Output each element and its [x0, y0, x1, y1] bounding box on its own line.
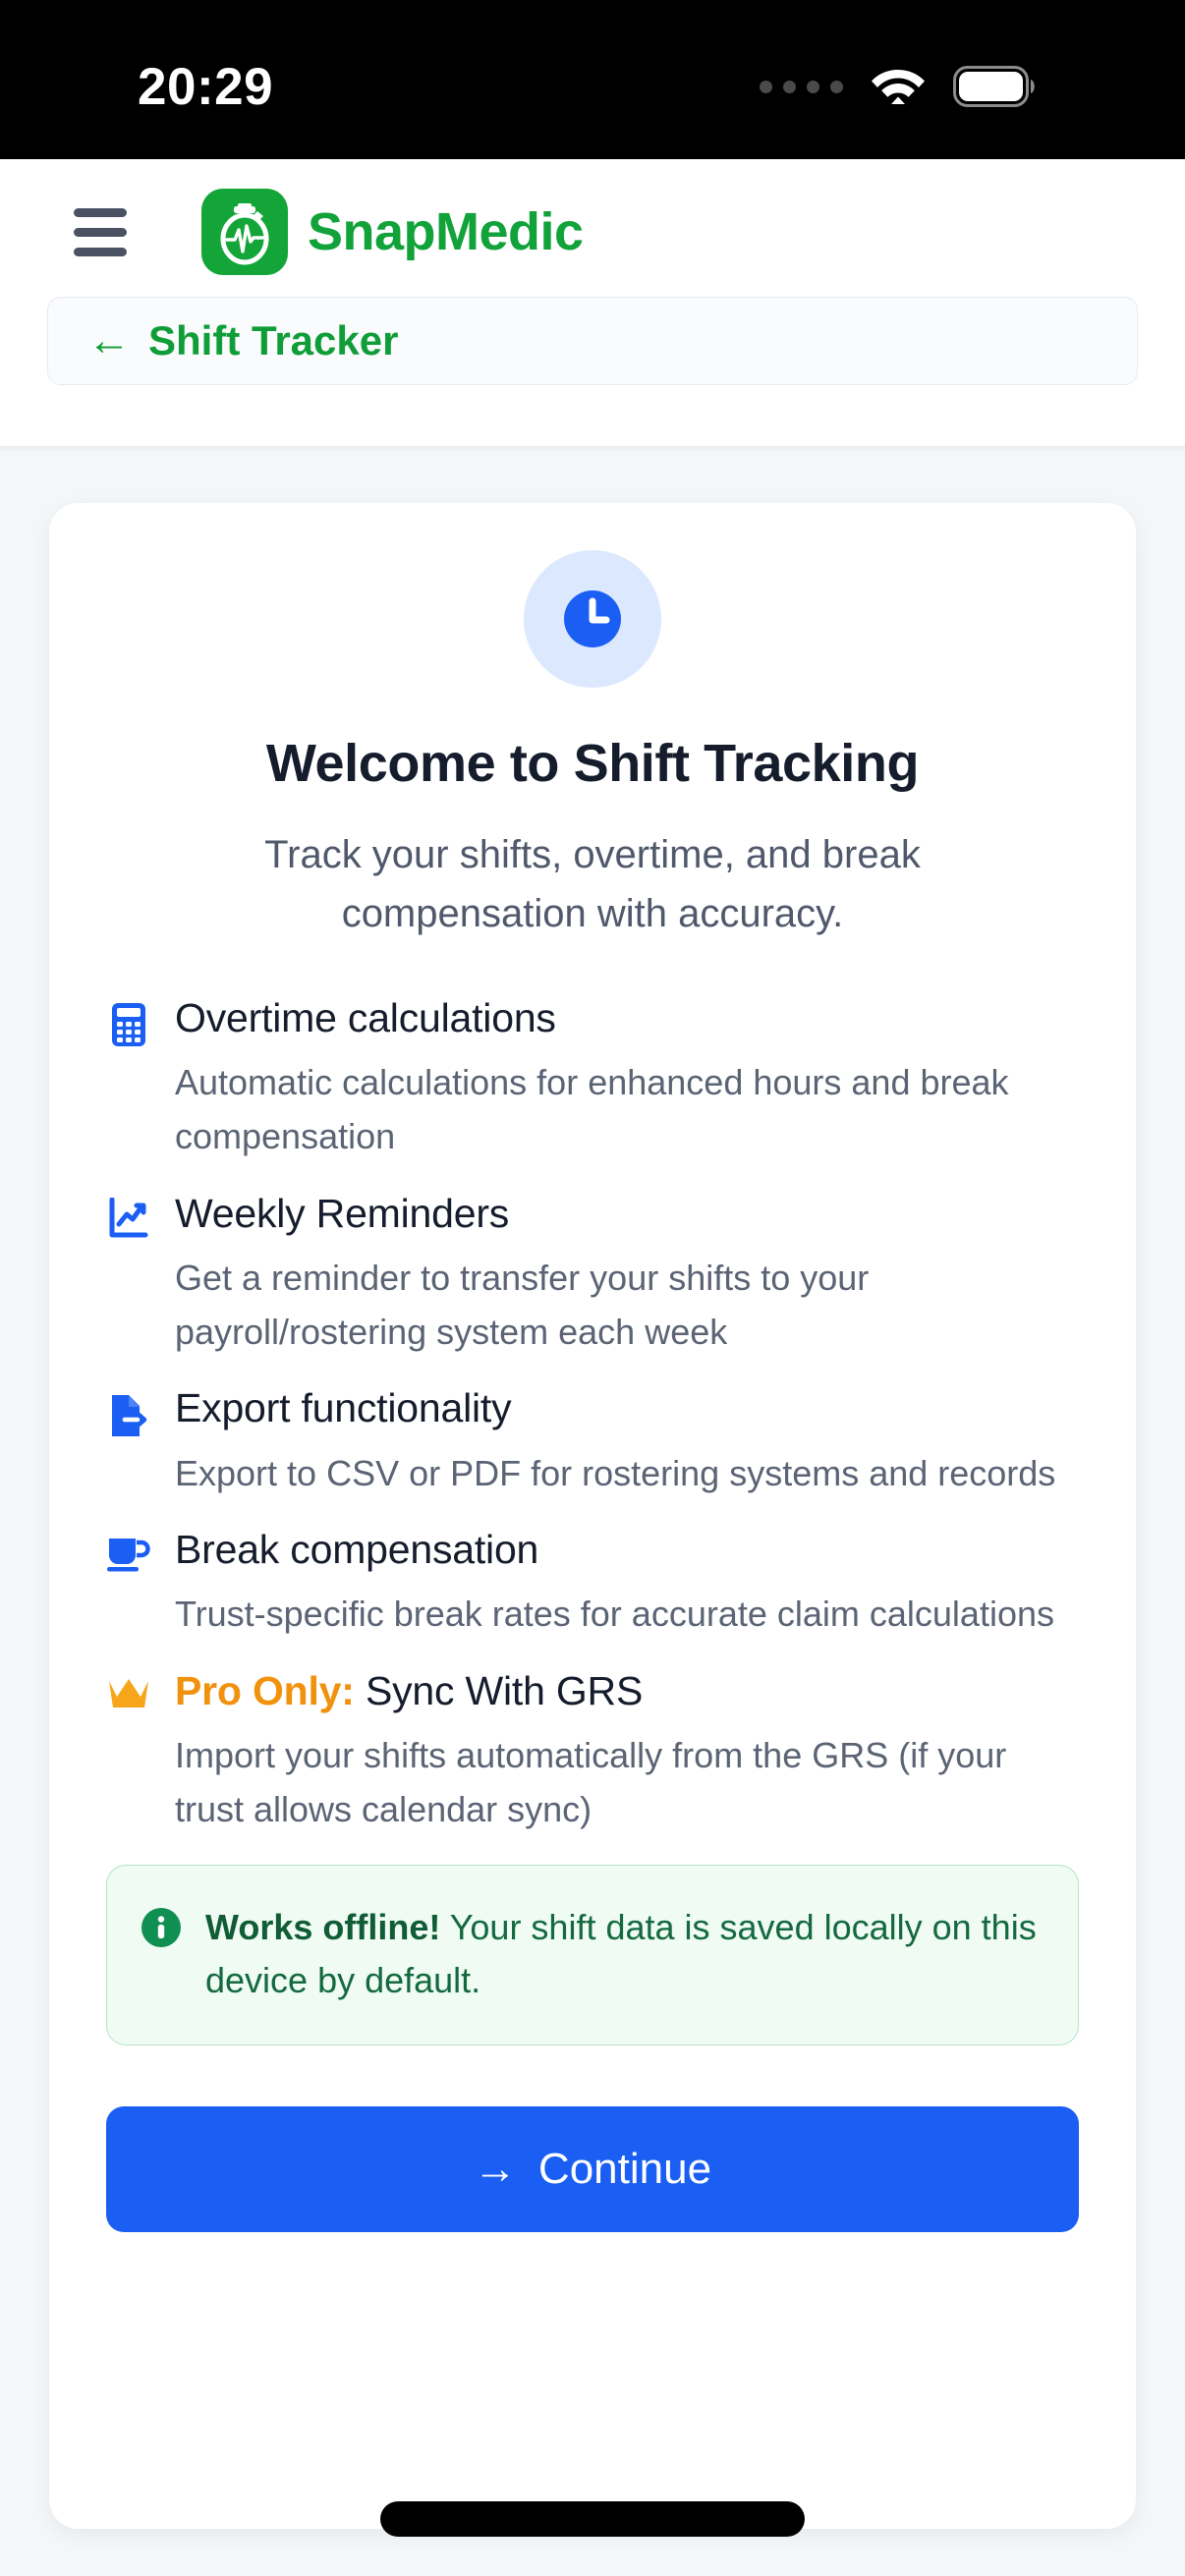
brand[interactable]: SnapMedic: [201, 189, 584, 275]
wifi-icon: [871, 64, 926, 110]
continue-button[interactable]: → Continue: [106, 2106, 1079, 2232]
feature-title-text: Sync With GRS: [366, 1668, 643, 1713]
feature-title: Weekly Reminders: [175, 1190, 1079, 1238]
file-export-icon: [106, 1384, 151, 1439]
feature-body: Break compensation Trust-specific break …: [175, 1526, 1079, 1642]
pro-only-badge: Pro Only:: [175, 1668, 355, 1713]
arrow-right-icon: →: [474, 2148, 517, 2191]
signal-dots-icon: [760, 81, 843, 93]
feature-title: Break compensation: [175, 1526, 1079, 1574]
list-item: Overtime calculations Automatic calculat…: [106, 994, 1079, 1164]
list-item: Weekly Reminders Get a reminder to trans…: [106, 1190, 1079, 1360]
feature-list: Overtime calculations Automatic calculat…: [106, 994, 1079, 1837]
page-subtitle: Track your shifts, overtime, and break c…: [199, 825, 986, 943]
coffee-cup-icon: [106, 1526, 151, 1573]
home-indicator[interactable]: [380, 2501, 805, 2537]
back-button-label: Shift Tracker: [148, 320, 398, 362]
feature-title: Export functionality: [175, 1384, 1079, 1432]
battery-full-icon: [953, 66, 1038, 107]
status-bar-clock: 20:29: [138, 61, 273, 113]
app-header: SnapMedic ← Shift Tracker: [0, 159, 1185, 446]
clock-icon: [524, 550, 661, 688]
list-item: Export functionality Export to CSV or PD…: [106, 1384, 1079, 1500]
crown-icon: [106, 1667, 151, 1712]
onboarding-card: Welcome to Shift Tracking Track your shi…: [49, 503, 1136, 2529]
feature-title: Pro Only: Sync With GRS: [175, 1667, 1079, 1715]
snapmedic-stopwatch-logo-icon: [201, 189, 288, 275]
feature-body: Weekly Reminders Get a reminder to trans…: [175, 1190, 1079, 1360]
feature-body: Overtime calculations Automatic calculat…: [175, 994, 1079, 1164]
feature-description: Import your shifts automatically from th…: [175, 1729, 1079, 1836]
line-chart-icon: [106, 1190, 151, 1239]
back-to-shift-tracker-button[interactable]: ← Shift Tracker: [47, 297, 1138, 385]
feature-body: Pro Only: Sync With GRS Import your shif…: [175, 1667, 1079, 1837]
offline-banner-text: Works offline! Your shift data is saved …: [205, 1901, 1044, 2007]
page-title: Welcome to Shift Tracking: [106, 733, 1079, 794]
feature-description: Automatic calculations for enhanced hour…: [175, 1056, 1079, 1163]
feature-description: Trust-specific break rates for accurate …: [175, 1588, 1079, 1642]
back-arrow-icon: ←: [87, 319, 131, 363]
offline-info-banner: Works offline! Your shift data is saved …: [106, 1865, 1079, 2045]
list-item: Pro Only: Sync With GRS Import your shif…: [106, 1667, 1079, 1837]
offline-banner-bold: Works offline!: [205, 1907, 440, 1947]
list-item: Break compensation Trust-specific break …: [106, 1526, 1079, 1642]
feature-body: Export functionality Export to CSV or PD…: [175, 1384, 1079, 1500]
feature-title: Overtime calculations: [175, 994, 1079, 1042]
brand-name: SnapMedic: [308, 205, 584, 258]
info-circle-icon: [141, 1901, 184, 1953]
continue-button-label: Continue: [538, 2145, 711, 2194]
feature-description: Get a reminder to transfer your shifts t…: [175, 1252, 1079, 1359]
feature-description: Export to CSV or PDF for rostering syste…: [175, 1447, 1079, 1501]
app-header-row: SnapMedic: [0, 159, 1185, 287]
calculator-icon: [106, 994, 151, 1047]
status-bar-indicators: [760, 64, 1038, 110]
hamburger-menu-icon[interactable]: [74, 208, 131, 256]
status-bar: 20:29: [0, 0, 1185, 159]
phone-screen: 20:29: [0, 0, 1185, 2576]
